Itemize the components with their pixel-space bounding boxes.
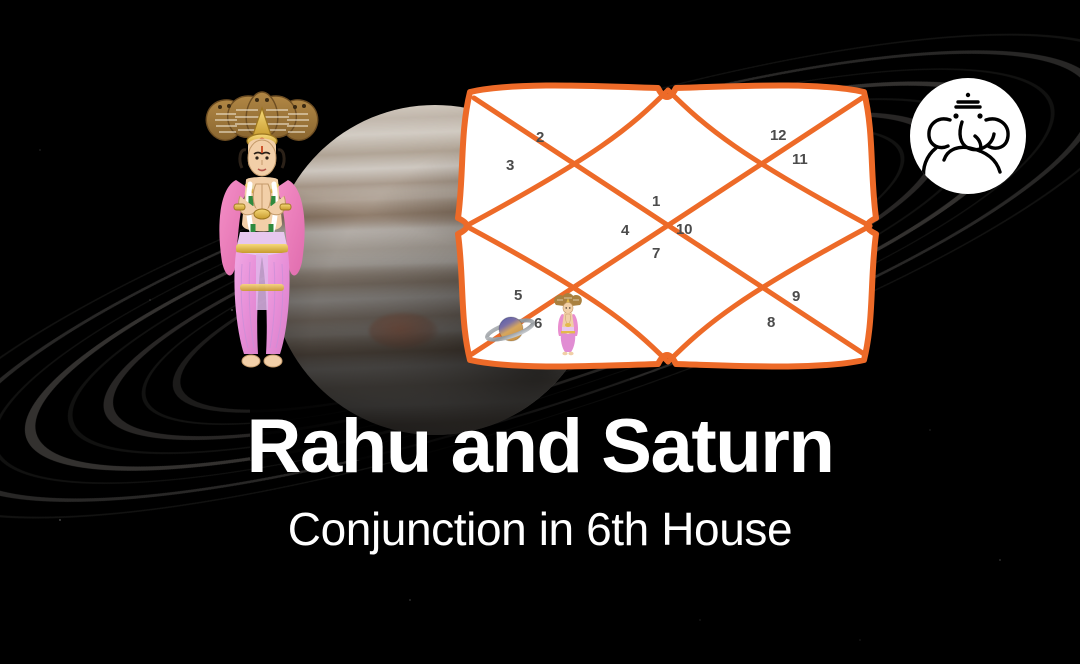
page-subtitle: Conjunction in 6th House <box>0 500 1080 558</box>
rahu-deity-illustration <box>196 84 328 374</box>
house-number-7: 7 <box>652 246 660 261</box>
feet <box>242 355 282 367</box>
house-number-5: 5 <box>514 288 522 303</box>
ganesha-logo[interactable] <box>908 76 1028 196</box>
house-number-4: 4 <box>621 223 629 238</box>
house-number-1: 1 <box>652 194 660 209</box>
rahu-planet-icon <box>553 292 583 356</box>
deity-head <box>240 139 284 177</box>
saturn-planet-icon <box>484 308 536 352</box>
house-number-12: 12 <box>770 128 786 143</box>
house-number-11: 11 <box>792 152 807 167</box>
house-number-8: 8 <box>767 315 775 330</box>
house-number-3: 3 <box>506 158 514 173</box>
poster-canvas: 1 2 3 4 5 6 7 8 9 10 11 12 <box>0 0 1080 664</box>
house-number-10: 10 <box>676 222 692 237</box>
ganesha-icon <box>910 78 1026 194</box>
house-number-2: 2 <box>536 130 544 145</box>
page-title: Rahu and Saturn <box>0 404 1080 490</box>
house-number-9: 9 <box>792 289 800 304</box>
